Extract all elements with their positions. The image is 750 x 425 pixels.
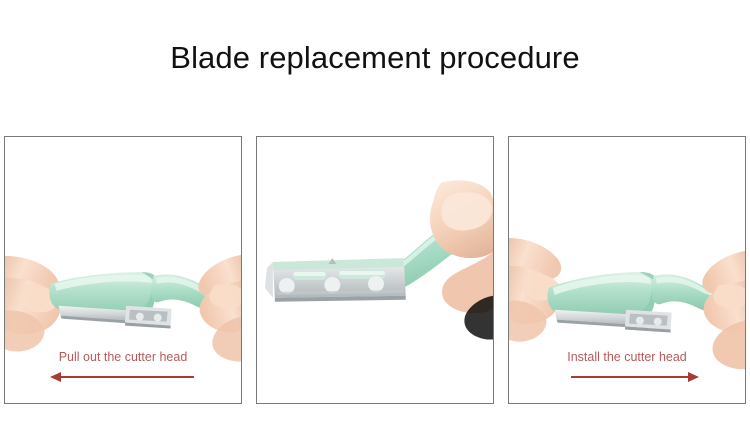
panel-row: Pull out the cutter head bbox=[4, 136, 746, 406]
caption-pull-out: Pull out the cutter head bbox=[5, 350, 241, 364]
arrow-left-pull-out bbox=[50, 371, 194, 383]
metal-blade bbox=[265, 258, 406, 302]
arrow-right-install bbox=[571, 371, 699, 383]
panel-blade-head bbox=[256, 136, 494, 404]
panel-pull-out: Pull out the cutter head bbox=[4, 136, 242, 404]
panel-install: Install the cutter head bbox=[508, 136, 746, 404]
photo-blade-head bbox=[257, 137, 493, 403]
blade-replacement-infographic: Blade replacement procedure bbox=[0, 0, 750, 425]
caption-install: Install the cutter head bbox=[509, 350, 745, 364]
right-hand-group bbox=[198, 254, 241, 361]
page-title: Blade replacement procedure bbox=[0, 40, 750, 76]
